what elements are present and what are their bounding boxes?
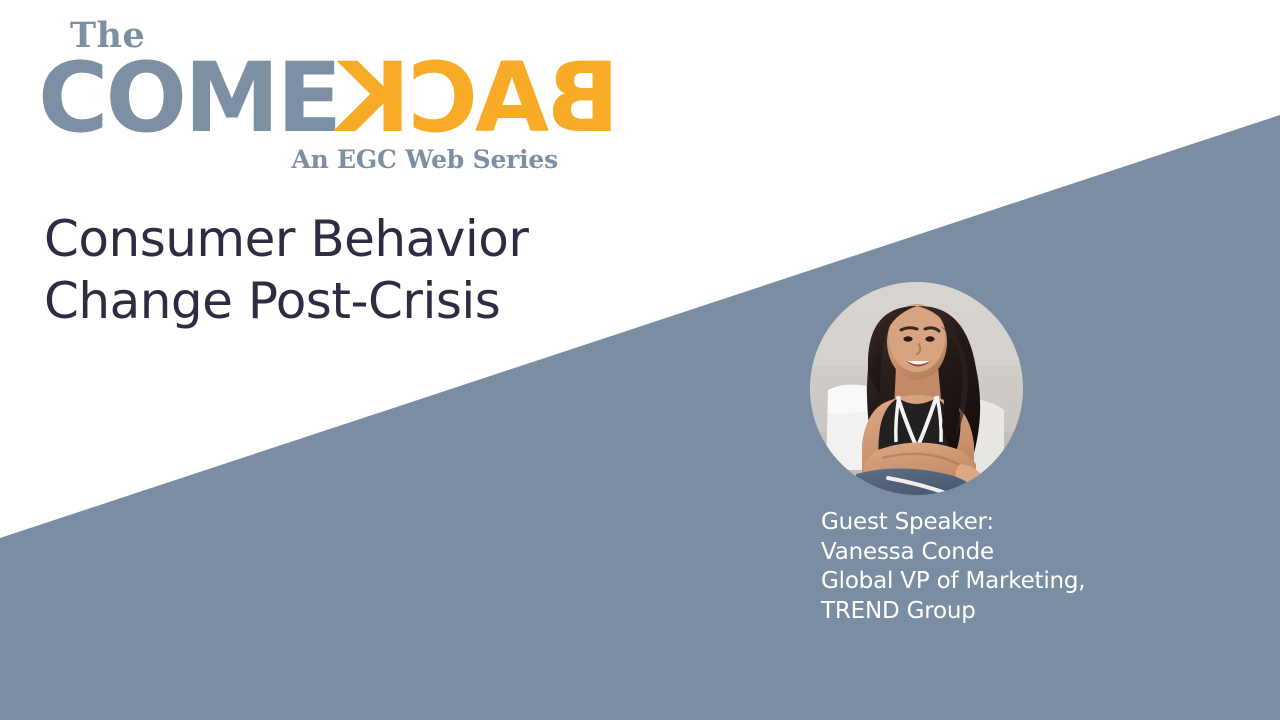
- speaker-name: Vanessa Conde: [821, 538, 1201, 568]
- presentation-slide: The COME BACK An EGC Web Series Consumer…: [0, 0, 1280, 720]
- speaker-portrait: [810, 282, 1023, 495]
- speaker-company: TREND Group: [821, 597, 1201, 627]
- slide-title: Consumer Behavior Change Post-Crisis: [44, 208, 694, 332]
- logo-wordmark: COME BACK: [38, 55, 598, 141]
- comeback-logo: The COME BACK An EGC Web Series: [38, 18, 598, 172]
- slide-title-line-1: Consumer Behavior: [44, 208, 694, 270]
- speaker-label: Guest Speaker:: [821, 508, 1201, 538]
- speaker-portrait-image: [810, 282, 1023, 495]
- speaker-title: Global VP of Marketing,: [821, 567, 1201, 597]
- slide-title-line-2: Change Post-Crisis: [44, 270, 694, 332]
- logo-word-come: COME: [38, 55, 339, 141]
- speaker-info: Guest Speaker: Vanessa Conde Global VP o…: [821, 508, 1201, 626]
- logo-word-back-mirrored: BACK: [339, 55, 619, 141]
